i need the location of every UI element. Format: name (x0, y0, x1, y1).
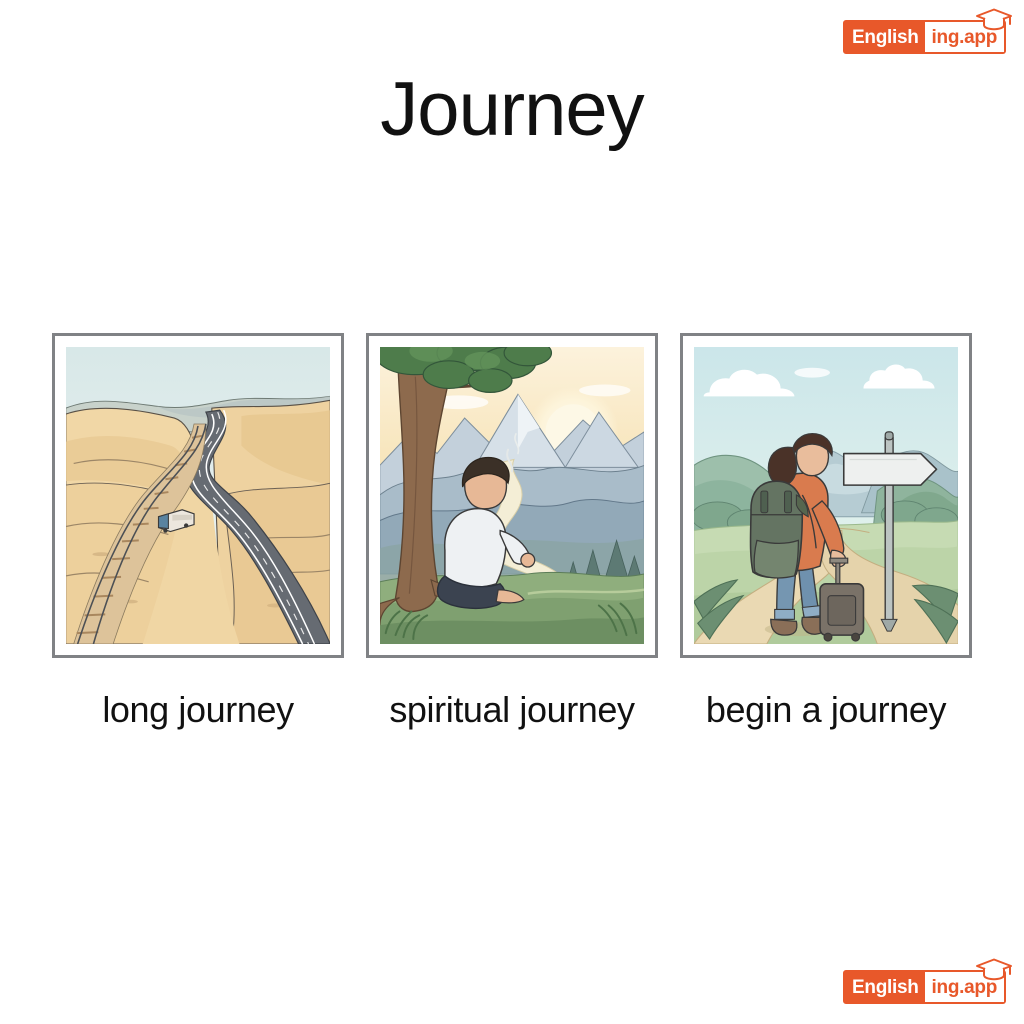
vocabulary-card-page: English ing.app Journey (0, 0, 1024, 1024)
brand-logo-box: English ing.app (843, 970, 1006, 1004)
traveler-at-crossroads-illustration (694, 347, 958, 644)
image-frame (366, 333, 658, 658)
card-caption: spiritual journey (389, 686, 634, 734)
brand-logo-text-primary: English (845, 22, 925, 52)
image-frame (52, 333, 344, 658)
brand-logo-text-secondary: ing.app (925, 22, 1004, 52)
example-cards-row: long journey (52, 333, 972, 734)
brand-logo-text-secondary: ing.app (925, 972, 1004, 1002)
brand-logo-box: English ing.app (843, 20, 1006, 54)
card-caption: begin a journey (706, 686, 946, 734)
example-card-begin-a-journey[interactable]: begin a journey (680, 333, 972, 734)
image-frame (680, 333, 972, 658)
brand-logo-text-primary: English (845, 972, 925, 1002)
example-card-long-journey[interactable]: long journey (52, 333, 344, 734)
brand-logo-top[interactable]: English ing.app (843, 22, 1006, 52)
card-caption: long journey (102, 686, 293, 734)
page-title: Journey (0, 72, 1024, 148)
brand-logo-bottom[interactable]: English ing.app (843, 972, 1006, 1002)
meditation-under-tree-illustration (380, 347, 644, 644)
example-card-spiritual-journey[interactable]: spiritual journey (366, 333, 658, 734)
desert-highway-and-railway-illustration (66, 347, 330, 644)
